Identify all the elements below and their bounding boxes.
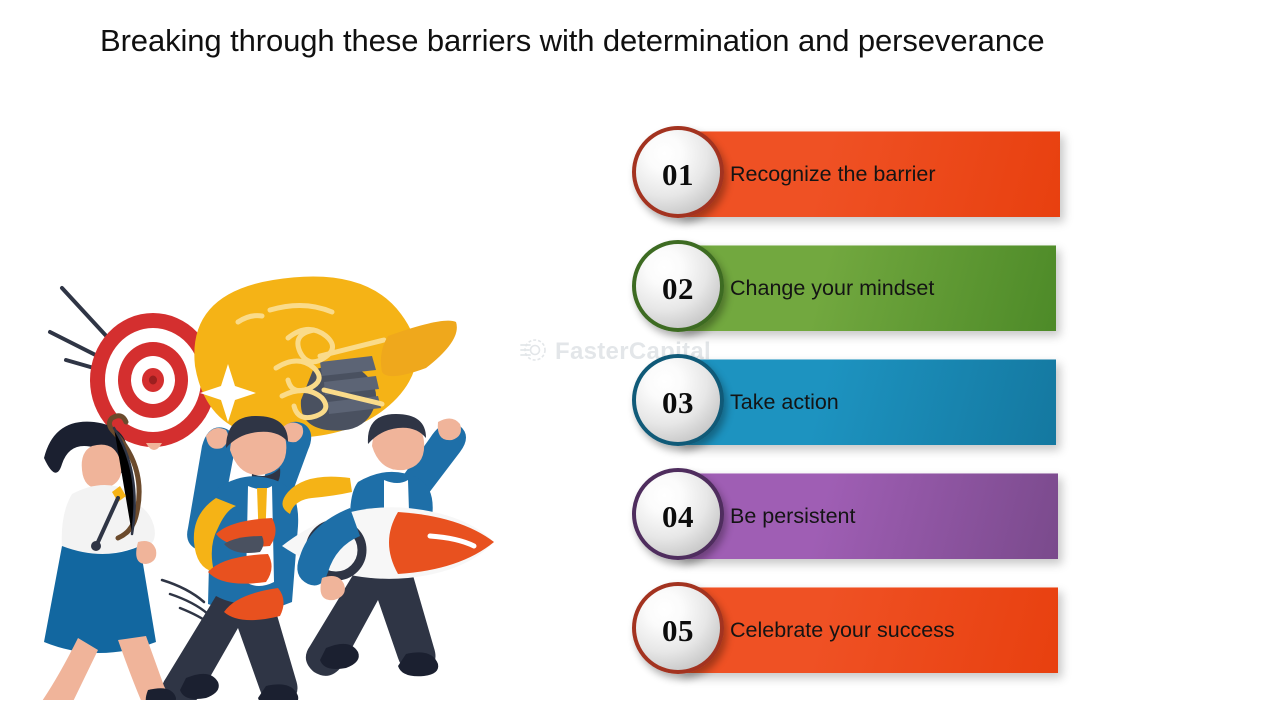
step-number-04: 04 — [662, 499, 694, 535]
woman-with-bow — [33, 416, 176, 700]
page-title: Breaking through these barriers with det… — [100, 22, 1200, 60]
steps-list: Recognize the barrier 01 Change your min… — [632, 126, 1042, 671]
step-label-04: Be persistent — [730, 501, 1000, 531]
step-row-02[interactable]: Change your mindset 02 — [632, 240, 1042, 336]
step-number-05: 05 — [662, 613, 694, 649]
step-badge-01[interactable]: 01 — [632, 126, 724, 218]
step-row-05[interactable]: Celebrate your success 05 — [632, 582, 1042, 678]
step-number-03: 03 — [662, 385, 694, 421]
step-badge-05[interactable]: 05 — [632, 582, 724, 674]
step-label-03: Take action — [730, 387, 1000, 417]
step-number-01: 01 — [662, 157, 694, 193]
step-number-02: 02 — [662, 271, 694, 307]
step-label-01: Recognize the barrier — [730, 159, 1000, 189]
step-label-02: Change your mindset — [730, 273, 1000, 303]
step-row-04[interactable]: Be persistent 04 — [632, 468, 1042, 564]
step-badge-02[interactable]: 02 — [632, 240, 724, 332]
step-row-01[interactable]: Recognize the barrier 01 — [632, 126, 1042, 222]
motion-lines — [162, 580, 210, 624]
teamwork-illustration — [20, 250, 540, 700]
step-row-03[interactable]: Take action 03 — [632, 354, 1042, 450]
step-label-05: Celebrate your success — [730, 615, 1000, 645]
step-badge-04[interactable]: 04 — [632, 468, 724, 560]
step-badge-03[interactable]: 03 — [632, 354, 724, 446]
